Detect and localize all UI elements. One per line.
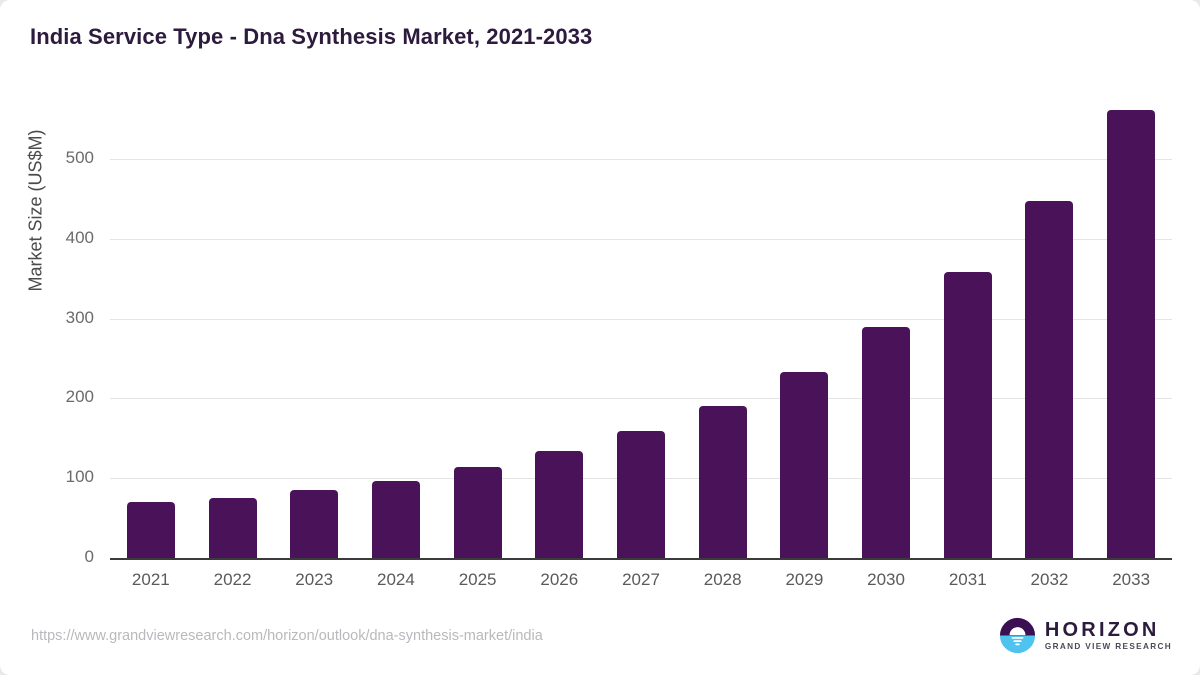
horizon-logo-text: HORIZON GRAND VIEW RESEARCH bbox=[1045, 620, 1172, 651]
bar-series bbox=[110, 95, 1172, 558]
bar[interactable] bbox=[209, 498, 257, 558]
bar[interactable] bbox=[290, 490, 338, 558]
y-tick-label: 300 bbox=[42, 308, 94, 328]
bar[interactable] bbox=[454, 467, 502, 558]
x-tick-label: 2025 bbox=[438, 570, 518, 590]
x-tick-label: 2030 bbox=[846, 570, 926, 590]
bar[interactable] bbox=[699, 406, 747, 558]
x-axis-line bbox=[110, 558, 1172, 560]
x-tick-label: 2024 bbox=[356, 570, 436, 590]
x-tick-label: 2028 bbox=[683, 570, 763, 590]
x-tick-label: 2021 bbox=[111, 570, 191, 590]
bar[interactable] bbox=[862, 327, 910, 558]
horizon-logo: HORIZON GRAND VIEW RESEARCH bbox=[999, 617, 1172, 654]
bar[interactable] bbox=[535, 451, 583, 558]
bar[interactable] bbox=[780, 372, 828, 558]
x-tick-label: 2023 bbox=[274, 570, 354, 590]
y-tick-label: 200 bbox=[42, 387, 94, 407]
y-tick-label: 100 bbox=[42, 467, 94, 487]
page-title: India Service Type - Dna Synthesis Marke… bbox=[30, 24, 592, 50]
bar[interactable] bbox=[372, 481, 420, 558]
x-tick-label: 2022 bbox=[193, 570, 273, 590]
bar[interactable] bbox=[1025, 201, 1073, 558]
x-tick-label: 2032 bbox=[1009, 570, 1089, 590]
y-tick-label: 500 bbox=[42, 148, 94, 168]
bar[interactable] bbox=[944, 272, 992, 558]
y-tick-label: 0 bbox=[42, 547, 94, 567]
x-tick-label: 2033 bbox=[1091, 570, 1171, 590]
bar[interactable] bbox=[1107, 110, 1155, 558]
logo-wordmark: HORIZON bbox=[1045, 620, 1172, 640]
chart-card: India Service Type - Dna Synthesis Marke… bbox=[0, 0, 1200, 675]
y-tick-label: 400 bbox=[42, 228, 94, 248]
x-tick-label: 2029 bbox=[764, 570, 844, 590]
source-url[interactable]: https://www.grandviewresearch.com/horizo… bbox=[31, 628, 543, 644]
horizon-logo-mark bbox=[999, 617, 1036, 654]
logo-tagline: GRAND VIEW RESEARCH bbox=[1045, 643, 1172, 651]
bar[interactable] bbox=[127, 502, 175, 558]
x-tick-label: 2026 bbox=[519, 570, 599, 590]
bar[interactable] bbox=[617, 431, 665, 558]
x-tick-label: 2027 bbox=[601, 570, 681, 590]
x-tick-label: 2031 bbox=[928, 570, 1008, 590]
